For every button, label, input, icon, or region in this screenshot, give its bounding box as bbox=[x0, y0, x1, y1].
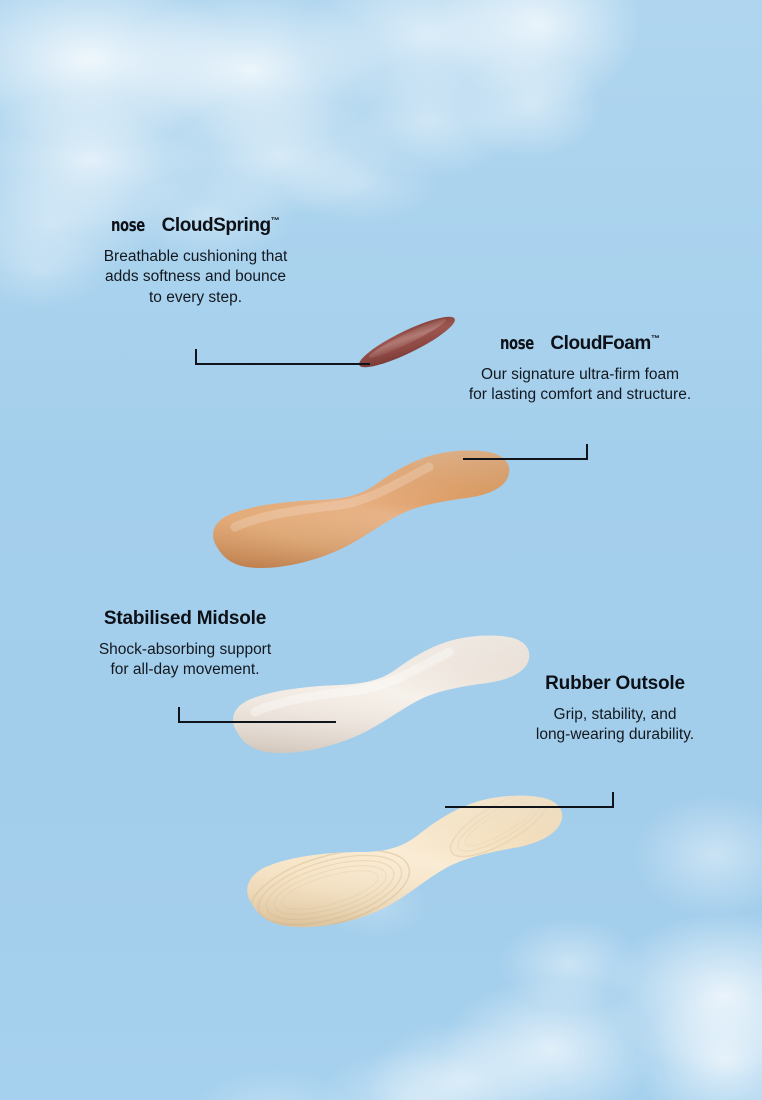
product-name-text: CloudSpring bbox=[157, 215, 271, 236]
nose-brand-wordmark: nose bbox=[111, 217, 145, 237]
callout-body-line: for lasting comfort and structure. bbox=[469, 386, 691, 403]
trademark-icon: ™ bbox=[651, 334, 660, 344]
product-name-text: CloudFoam bbox=[546, 333, 651, 354]
callout-body-line: Grip, stability, and bbox=[554, 706, 677, 723]
callout-outsole: Rubber Outsole Grip, stability, and long… bbox=[490, 673, 740, 746]
product-anatomy-graphic: nose CloudSpring™ Breathable cushioning … bbox=[0, 0, 762, 1100]
callout-body-line: Breathable cushioning that bbox=[104, 248, 288, 265]
callout-body-line: long-wearing durability. bbox=[536, 726, 694, 743]
callout-body-line: to every step. bbox=[149, 289, 242, 306]
nose-brand-wordmark: nose bbox=[500, 335, 534, 355]
callout-cloudspring: nose CloudSpring™ Breathable cushioning … bbox=[58, 215, 333, 309]
callout-heading-outsole: Rubber Outsole bbox=[490, 673, 740, 695]
callout-body-midsole: Shock-absorbing support for all-day move… bbox=[40, 640, 330, 681]
callout-heading-cloudspring: nose CloudSpring™ bbox=[58, 215, 333, 237]
callout-body-cloudfoam: Our signature ultra-firm foam for lastin… bbox=[420, 365, 740, 406]
callout-body-outsole: Grip, stability, and long-wearing durabi… bbox=[490, 705, 740, 746]
callout-body-line: Shock-absorbing support bbox=[99, 641, 271, 658]
callout-heading-midsole: Stabilised Midsole bbox=[40, 608, 330, 630]
callout-heading-cloudfoam: nose CloudFoam™ bbox=[420, 333, 740, 355]
callout-cloudfoam: nose CloudFoam™ Our signature ultra-firm… bbox=[420, 333, 740, 406]
callout-body-line: Our signature ultra-firm foam bbox=[481, 366, 679, 383]
trademark-icon: ™ bbox=[271, 216, 280, 226]
callout-body-cloudspring: Breathable cushioning that adds softness… bbox=[58, 247, 333, 309]
sky-background bbox=[0, 0, 762, 1100]
callout-body-line: adds softness and bounce bbox=[105, 268, 286, 285]
callout-midsole: Stabilised Midsole Shock-absorbing suppo… bbox=[40, 608, 330, 681]
callout-body-line: for all-day movement. bbox=[110, 661, 259, 678]
